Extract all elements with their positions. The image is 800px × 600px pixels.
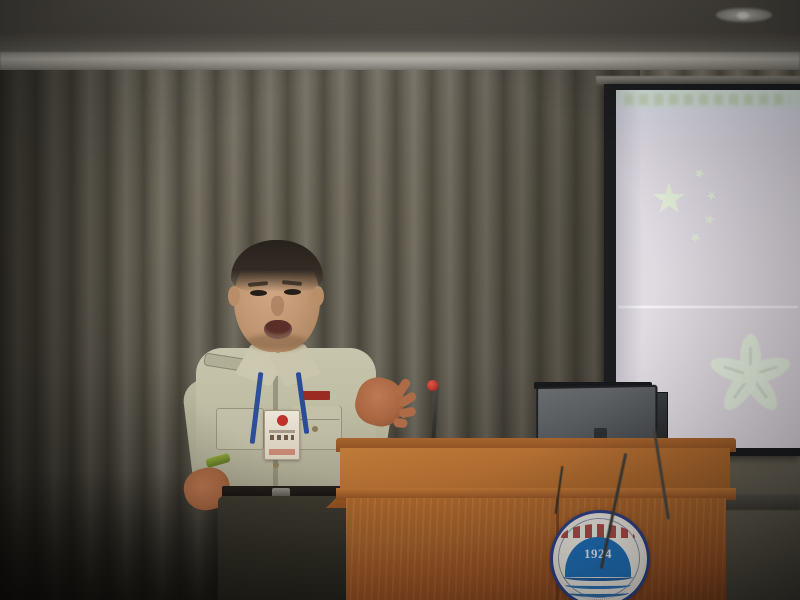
conference-id-badge bbox=[264, 410, 300, 460]
china-flag-star-small-4-icon bbox=[688, 230, 703, 245]
crest-english-name-arc bbox=[559, 569, 637, 600]
slide-divider-line bbox=[618, 306, 798, 308]
slide-title-text-washed-out bbox=[624, 94, 790, 105]
presenter-chin-shadow bbox=[246, 334, 308, 350]
uniform-button-1 bbox=[312, 426, 318, 432]
slide-title-bar bbox=[616, 90, 800, 110]
microphone-head-icon bbox=[427, 380, 438, 391]
presenter-hair bbox=[231, 240, 323, 292]
presenter-ear-right bbox=[312, 286, 324, 306]
lectern-reading-surface bbox=[340, 448, 730, 492]
presenter-eye-right bbox=[284, 289, 301, 295]
presenter-ear-left bbox=[228, 286, 240, 306]
china-flag-star-large-icon bbox=[652, 182, 686, 216]
hong-kong-bauhinia-icon bbox=[702, 328, 798, 424]
badge-red-emblem-icon bbox=[277, 415, 288, 426]
photo-scene: 1924 Man in light olive military-style u… bbox=[0, 0, 800, 600]
presenter-eye-left bbox=[250, 290, 267, 296]
uniform-button-2 bbox=[273, 462, 279, 468]
university-crest: 1924 bbox=[550, 510, 650, 600]
curtain-valance bbox=[0, 52, 800, 72]
china-flag-star-small-1-icon bbox=[692, 166, 706, 180]
lectern: 1924 bbox=[336, 438, 736, 600]
ceiling bbox=[0, 0, 800, 58]
badge-footer-band bbox=[269, 449, 295, 455]
crest-year: 1924 bbox=[565, 546, 631, 562]
presenter-finger-4 bbox=[393, 418, 408, 428]
badge-name-text bbox=[270, 435, 294, 440]
badge-text-line bbox=[269, 430, 295, 433]
presenter-nose bbox=[271, 296, 284, 316]
presenter-finger-3 bbox=[398, 406, 416, 418]
china-flag-star-small-2-icon bbox=[704, 188, 720, 204]
china-flag-star-small-3-icon bbox=[703, 213, 716, 226]
ceiling-light-glow bbox=[737, 12, 749, 19]
